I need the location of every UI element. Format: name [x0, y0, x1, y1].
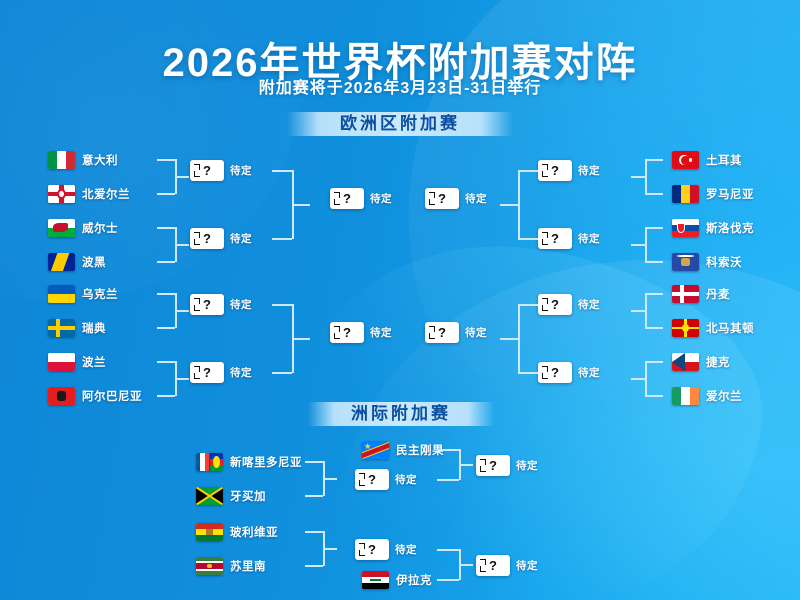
tbd-label: 待定 [230, 297, 252, 312]
team-entry-jamaica[interactable]: 牙买加 [196, 486, 266, 506]
flag-iraq [362, 571, 389, 589]
bracket-line-h [645, 193, 663, 195]
match-tbd-ic-2[interactable]: ? 待定 [355, 539, 417, 560]
question-mark-icon: ? [425, 188, 459, 209]
bracket-line-v [645, 159, 647, 194]
bracket-line-h [272, 170, 292, 172]
question-mark-icon: ? [538, 160, 572, 181]
bracket-line-h [631, 176, 645, 178]
bracket-line-v [518, 304, 520, 373]
team-entry-dr-congo[interactable]: 民主刚果 [362, 440, 444, 460]
team-entry-slovakia[interactable]: 斯洛伐克 [672, 218, 754, 238]
flag-suriname [196, 557, 223, 575]
question-mark-icon: ? [425, 322, 459, 343]
team-name: 波兰 [82, 354, 106, 370]
tbd-label: 待定 [370, 325, 392, 340]
bracket-line-h [292, 204, 310, 206]
team-entry-north-macedonia[interactable]: 北马其顿 [672, 318, 754, 338]
tbd-label: 待定 [395, 472, 417, 487]
team-name: 玻利维亚 [230, 524, 278, 540]
team-entry-albania[interactable]: 阿尔巴尼亚 [48, 386, 142, 406]
bracket-line-v [645, 361, 647, 396]
team-name: 波黑 [82, 254, 106, 270]
match-semifinal-eu-right-top[interactable]: ? 待定 [425, 188, 487, 209]
team-name: 瑞典 [82, 320, 106, 336]
tbd-label: 待定 [230, 163, 252, 178]
team-entry-ukraine[interactable]: 乌克兰 [48, 284, 118, 304]
flag-albania [48, 387, 75, 405]
flag-northern-ireland [48, 185, 75, 203]
match-tbd-eu-l1[interactable]: ? 待定 [190, 160, 252, 181]
team-name: 科索沃 [706, 254, 742, 270]
flag-denmark [672, 285, 699, 303]
match-final-ic-top[interactable]: ? 待定 [476, 455, 538, 476]
bracket-line-h [272, 372, 292, 374]
team-entry-denmark[interactable]: 丹麦 [672, 284, 730, 304]
flag-italy [48, 151, 75, 169]
team-entry-wales[interactable]: 威尔士 [48, 218, 118, 238]
bracket-line-h [157, 361, 175, 363]
flag-turkey [672, 151, 699, 169]
team-entry-italy[interactable]: 意大利 [48, 150, 118, 170]
bracket-line-h [305, 531, 323, 533]
tbd-label: 待定 [578, 297, 600, 312]
flag-ukraine [48, 285, 75, 303]
tbd-label: 待定 [230, 365, 252, 380]
bracket-line-h [157, 395, 175, 397]
team-name: 北马其顿 [706, 320, 754, 336]
team-entry-suriname[interactable]: 苏里南 [196, 556, 266, 576]
flag-bolivia [196, 523, 223, 541]
flag-ireland [672, 387, 699, 405]
bracket-line-h [437, 479, 459, 481]
bracket-line-h [323, 478, 337, 480]
tbd-label: 待定 [395, 542, 417, 557]
flag-czechia [672, 353, 699, 371]
team-entry-romania[interactable]: 罗马尼亚 [672, 184, 754, 204]
team-name: 罗马尼亚 [706, 186, 754, 202]
bracket-line-h [518, 304, 538, 306]
question-mark-icon: ? [190, 362, 224, 383]
bracket-line-h [175, 378, 189, 380]
team-name: 威尔士 [82, 220, 118, 236]
question-mark-icon: ? [538, 362, 572, 383]
bracket-line-h [631, 378, 645, 380]
bracket-line-h [292, 338, 310, 340]
match-tbd-eu-l2[interactable]: ? 待定 [190, 228, 252, 249]
bracket-line-h [500, 338, 518, 340]
tbd-label: 待定 [516, 558, 538, 573]
bracket-line-h [305, 461, 323, 463]
bracket-line-h [437, 449, 459, 451]
bracket-line-h [157, 293, 175, 295]
tbd-label: 待定 [578, 163, 600, 178]
bracket-line-v [518, 170, 520, 239]
team-name: 伊拉克 [396, 572, 432, 588]
bracket-line-h [157, 327, 175, 329]
bracket-line-h [518, 238, 538, 240]
team-entry-new-caledonia[interactable]: 新喀里多尼亚 [196, 452, 302, 472]
question-mark-icon: ? [476, 455, 510, 476]
page-subtitle: 附加赛将于2026年3月23日-31日举行 [0, 74, 800, 98]
bracket-line-h [645, 227, 663, 229]
match-tbd-ic-1[interactable]: ? 待定 [355, 469, 417, 490]
bracket-line-h [437, 579, 459, 581]
match-tbd-eu-r2[interactable]: ? 待定 [538, 228, 600, 249]
bracket-line-h [645, 327, 663, 329]
bracket-line-h [272, 238, 292, 240]
question-mark-icon: ? [538, 228, 572, 249]
bracket-line-h [518, 170, 538, 172]
team-entry-sweden[interactable]: 瑞典 [48, 318, 106, 338]
team-name: 意大利 [82, 152, 118, 168]
bracket-line-h [157, 193, 175, 195]
bracket-line-h [631, 310, 645, 312]
bracket-line-h [645, 361, 663, 363]
team-name: 乌克兰 [82, 286, 118, 302]
tbd-label: 待定 [516, 458, 538, 473]
team-entry-kosovo[interactable]: 科索沃 [672, 252, 742, 272]
flag-new-caledonia [196, 453, 223, 471]
team-name: 新喀里多尼亚 [230, 454, 302, 470]
team-name: 斯洛伐克 [706, 220, 754, 236]
match-semifinal-eu-left-bottom[interactable]: ? 待定 [330, 322, 392, 343]
bracket-line-h [500, 204, 518, 206]
bracket-line-h [175, 310, 189, 312]
team-name: 阿尔巴尼亚 [82, 388, 142, 404]
flag-dr-congo [362, 441, 389, 459]
match-tbd-eu-r3[interactable]: ? 待定 [538, 294, 600, 315]
team-name: 丹麦 [706, 286, 730, 302]
team-entry-poland[interactable]: 波兰 [48, 352, 106, 372]
team-name: 苏里南 [230, 558, 266, 574]
flag-kosovo [672, 253, 699, 271]
tbd-label: 待定 [465, 325, 487, 340]
question-mark-icon: ? [190, 228, 224, 249]
question-mark-icon: ? [190, 160, 224, 181]
tbd-label: 待定 [578, 365, 600, 380]
bracket-line-h [272, 304, 292, 306]
bracket-line-h [645, 159, 663, 161]
bracket-line-h [157, 261, 175, 263]
match-tbd-eu-r4[interactable]: ? 待定 [538, 362, 600, 383]
match-tbd-eu-l3[interactable]: ? 待定 [190, 294, 252, 315]
bracket-line-h [175, 176, 189, 178]
flag-jamaica [196, 487, 223, 505]
question-mark-icon: ? [355, 539, 389, 560]
match-semifinal-eu-right-bottom[interactable]: ? 待定 [425, 322, 487, 343]
flag-romania [672, 185, 699, 203]
team-name: 北爱尔兰 [82, 186, 130, 202]
team-entry-bolivia[interactable]: 玻利维亚 [196, 522, 278, 542]
flag-bosnia [48, 253, 75, 271]
bracket-line-h [459, 564, 473, 566]
bracket-line-v [645, 293, 647, 328]
team-entry-turkey[interactable]: 土耳其 [672, 150, 742, 170]
bracket-line-h [631, 244, 645, 246]
flag-north-macedonia [672, 319, 699, 337]
flag-wales [48, 219, 75, 237]
bracket-line-h [518, 372, 538, 374]
question-mark-icon: ? [476, 555, 510, 576]
section-header-intercontinental: 洲际附加赛 [308, 402, 494, 426]
team-entry-northern-ireland[interactable]: 北爱尔兰 [48, 184, 130, 204]
question-mark-icon: ? [330, 188, 364, 209]
match-tbd-eu-r1[interactable]: ? 待定 [538, 160, 600, 181]
bracket-line-h [157, 159, 175, 161]
team-name: 爱尔兰 [706, 388, 742, 404]
bracket-line-h [323, 548, 337, 550]
team-entry-czechia[interactable]: 捷克 [672, 352, 730, 372]
bracket-line-v [645, 227, 647, 262]
team-name: 土耳其 [706, 152, 742, 168]
match-final-ic-bottom[interactable]: ? 待定 [476, 555, 538, 576]
match-tbd-eu-l4[interactable]: ? 待定 [190, 362, 252, 383]
bracket-line-h [645, 293, 663, 295]
bracket-line-h [175, 244, 189, 246]
question-mark-icon: ? [190, 294, 224, 315]
team-entry-iraq[interactable]: 伊拉克 [362, 570, 432, 590]
team-entry-ireland[interactable]: 爱尔兰 [672, 386, 742, 406]
team-name: 捷克 [706, 354, 730, 370]
bracket-canvas: 2026年世界杯附加赛对阵 附加赛将于2026年3月23日-31日举行 欧洲区附… [0, 0, 800, 600]
team-name: 牙买加 [230, 488, 266, 504]
flag-sweden [48, 319, 75, 337]
bracket-line-h [459, 464, 473, 466]
flag-poland [48, 353, 75, 371]
match-semifinal-eu-left-top[interactable]: ? 待定 [330, 188, 392, 209]
tbd-label: 待定 [578, 231, 600, 246]
tbd-label: 待定 [370, 191, 392, 206]
tbd-label: 待定 [465, 191, 487, 206]
bracket-line-h [305, 495, 323, 497]
question-mark-icon: ? [330, 322, 364, 343]
bracket-line-h [437, 549, 459, 551]
flag-slovakia [672, 219, 699, 237]
team-entry-bosnia[interactable]: 波黑 [48, 252, 106, 272]
bracket-line-h [157, 227, 175, 229]
question-mark-icon: ? [355, 469, 389, 490]
question-mark-icon: ? [538, 294, 572, 315]
section-header-europe: 欧洲区附加赛 [287, 112, 513, 136]
bracket-line-h [645, 395, 663, 397]
tbd-label: 待定 [230, 231, 252, 246]
bracket-line-h [305, 565, 323, 567]
bracket-line-h [645, 261, 663, 263]
